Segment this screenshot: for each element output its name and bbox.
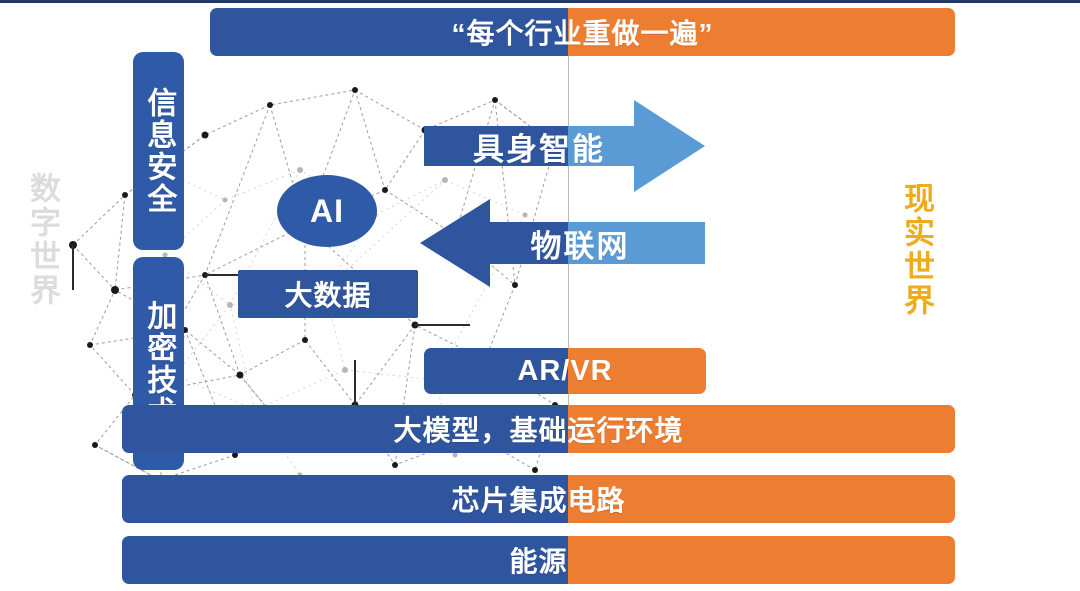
sidebar-info-security[interactable]: 信息安全 <box>133 52 184 250</box>
node-big-data[interactable]: 大数据 <box>238 270 418 318</box>
arrow-embodied-intelligence[interactable]: 具身智能 <box>424 98 706 194</box>
real-world-label: 现实世界 <box>898 182 934 318</box>
arrow-iot-label: 物联网 <box>480 198 680 288</box>
digital-world-label: 数字世界 <box>24 172 60 308</box>
headline-bar[interactable]: “每个行业重做一遍” <box>210 8 955 56</box>
stack-bar-chip-ic[interactable]: 芯片集成电路 <box>122 475 955 523</box>
sidebar-info-security-label: 信息安全 <box>143 87 175 215</box>
stack-bar-energy-label: 能源 <box>122 536 955 584</box>
diagram-canvas: 数字世界 现实世界 “每个行业重做一遍” 信息安全 加密技术 具身智能 <box>0 0 1080 591</box>
stack-bar-large-model[interactable]: 大模型，基础运行环境 <box>122 405 955 453</box>
node-ai[interactable]: AI <box>277 175 377 247</box>
node-big-data-label: 大数据 <box>238 270 418 318</box>
stack-bar-large-model-label: 大模型，基础运行环境 <box>122 405 955 453</box>
top-rule <box>0 0 1080 3</box>
node-ai-label: AI <box>310 193 344 230</box>
stack-bar-energy[interactable]: 能源 <box>122 536 955 584</box>
headline-text: “每个行业重做一遍” <box>210 8 955 56</box>
arrow-embodied-intelligence-label: 具身智能 <box>424 98 654 194</box>
stack-bar-ar-vr-label: AR/VR <box>424 348 706 394</box>
stack-bar-ar-vr[interactable]: AR/VR <box>424 348 706 394</box>
stack-bar-chip-ic-label: 芯片集成电路 <box>122 475 955 523</box>
arrow-iot[interactable]: 物联网 <box>420 198 706 288</box>
